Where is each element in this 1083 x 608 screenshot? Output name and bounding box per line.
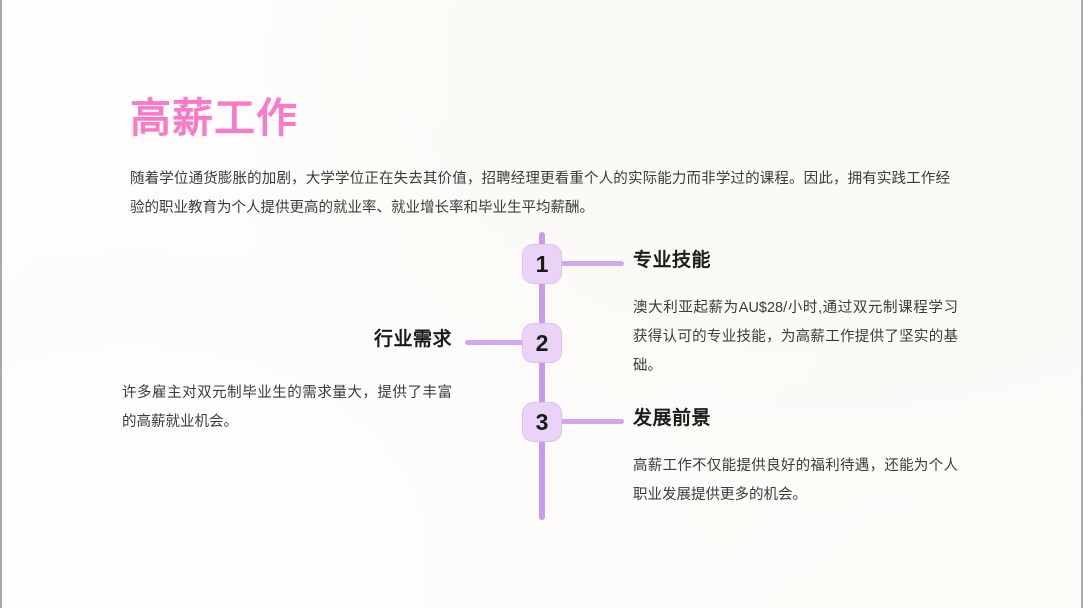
timeline-node-2[interactable]: 2 [522, 323, 562, 363]
timeline-connector-1 [559, 261, 624, 266]
timeline-body-1: 澳大利亚起薪为AU$28/小时,通过双元制课程学习获得认可的专业技能，为高薪工作… [633, 294, 958, 381]
timeline-block-3: 发展前景 高薪工作不仅能提供良好的福利待遇，还能为个人职业发展提供更多的机会。 [633, 407, 958, 510]
timeline-heading-3: 发展前景 [633, 407, 958, 432]
timeline-heading-1: 专业技能 [633, 249, 958, 274]
timeline-connector-2 [465, 340, 525, 345]
timeline-block-2: 行业需求 许多雇主对双元制毕业生的需求量大，提供了丰富的高薪就业机会。 [122, 328, 452, 437]
intro-paragraph: 随着学位通货膨胀的加剧，大学学位正在失去其价值，招聘经理更看重个人的实际能力而非… [130, 165, 950, 223]
timeline-connector-3 [559, 419, 624, 424]
slide-canvas: 高薪工作 随着学位通货膨胀的加剧，大学学位正在失去其价值，招聘经理更看重个人的实… [0, 0, 1083, 608]
timeline-node-1[interactable]: 1 [522, 244, 562, 284]
timeline-body-3: 高薪工作不仅能提供良好的福利待遇，还能为个人职业发展提供更多的机会。 [633, 452, 958, 510]
timeline-block-1: 专业技能 澳大利亚起薪为AU$28/小时,通过双元制课程学习获得认可的专业技能，… [633, 249, 958, 381]
page-title: 高薪工作 [130, 95, 298, 142]
timeline-node-3[interactable]: 3 [522, 402, 562, 442]
timeline-body-2: 许多雇主对双元制毕业生的需求量大，提供了丰富的高薪就业机会。 [122, 379, 452, 437]
timeline-heading-2: 行业需求 [122, 328, 452, 353]
